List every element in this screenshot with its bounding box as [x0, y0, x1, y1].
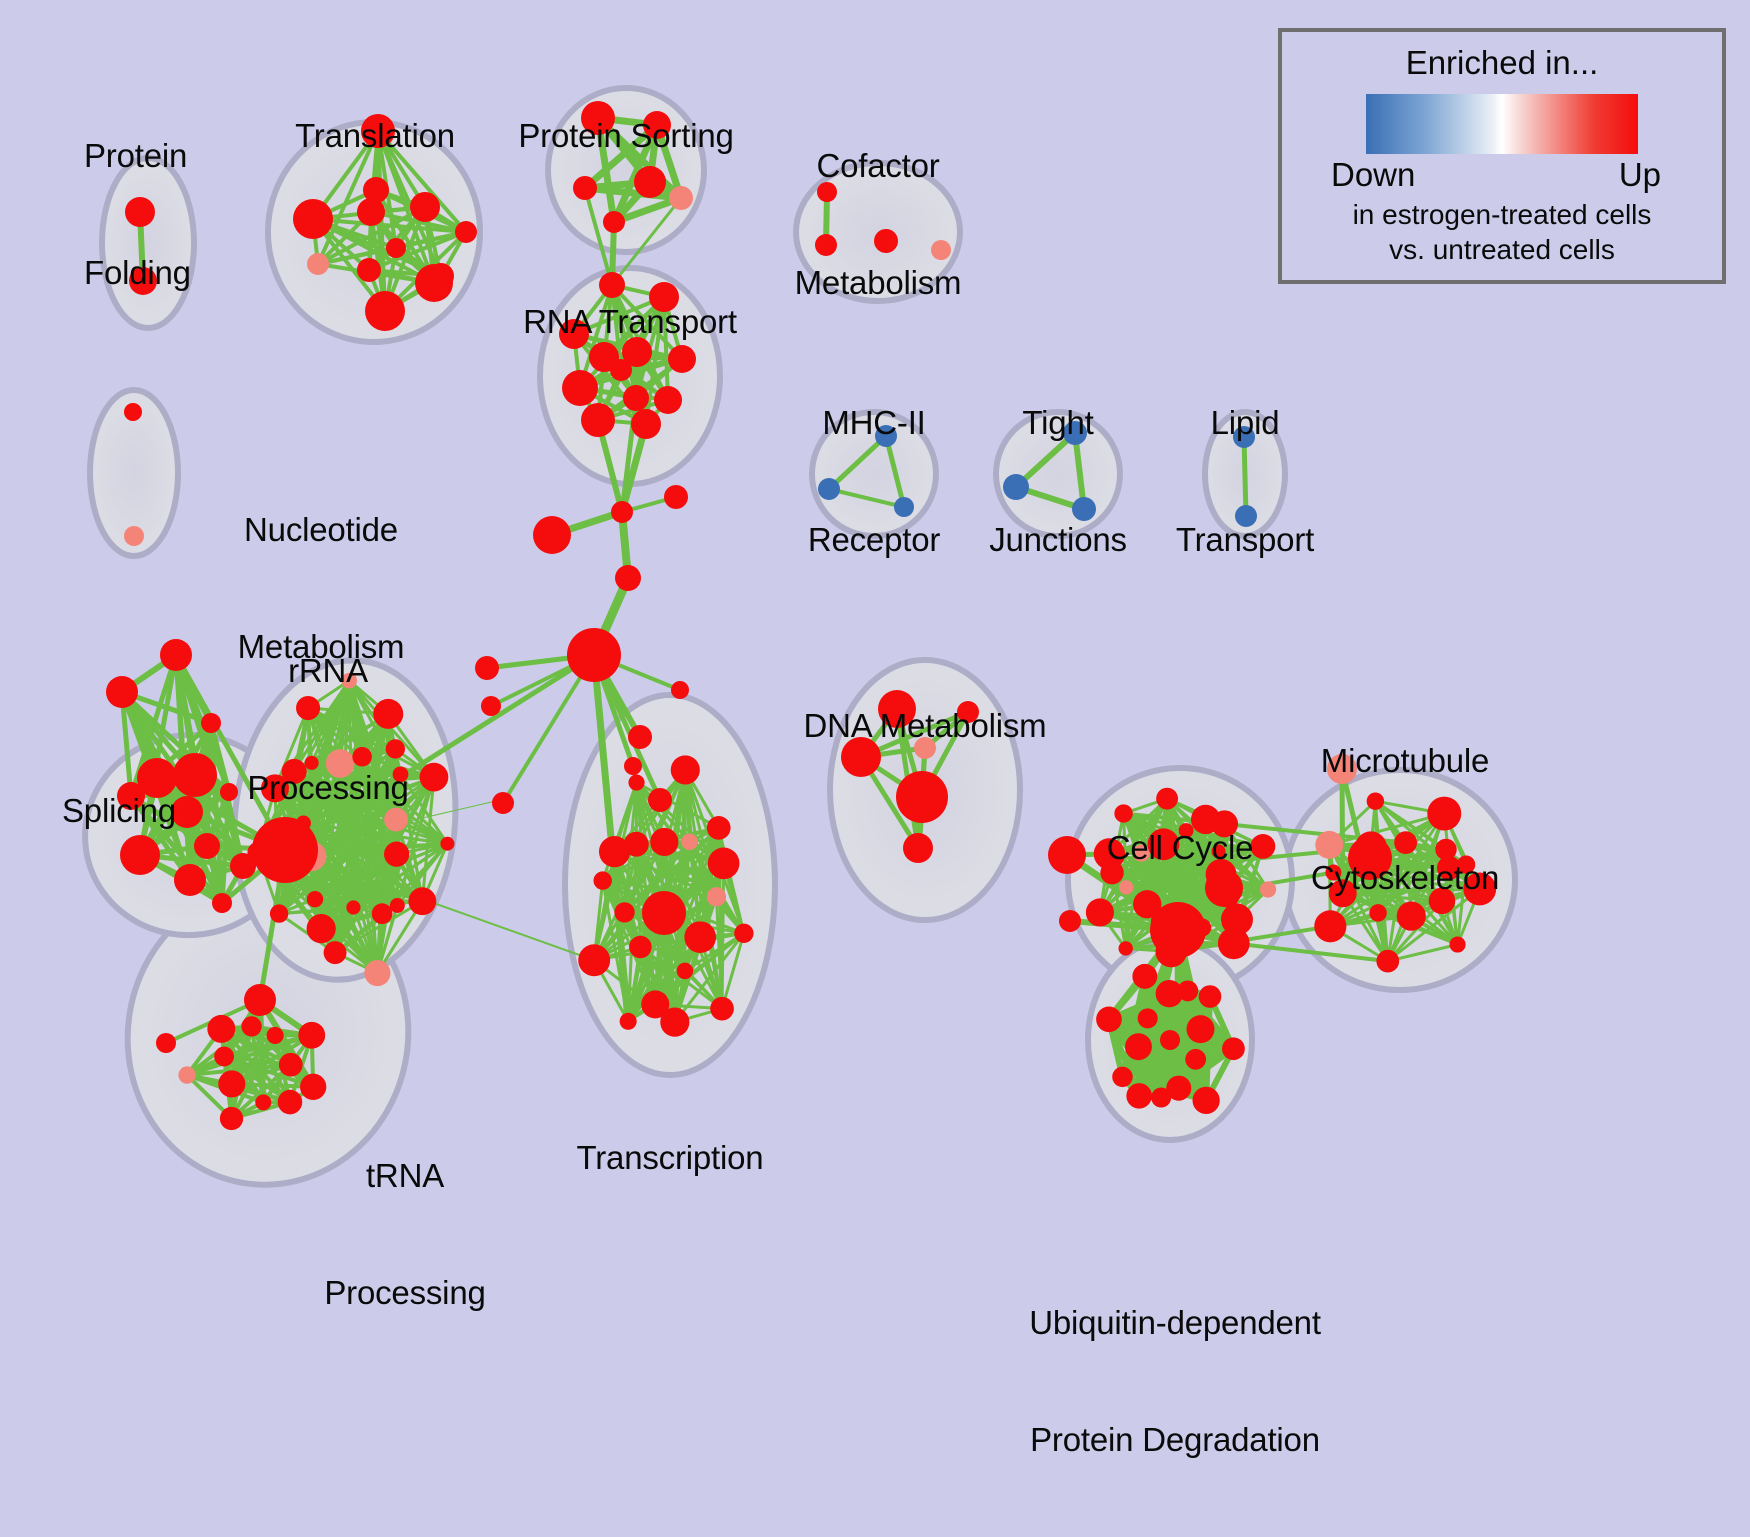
cluster-label-tight-junctions: Tight Junctions — [963, 325, 1153, 637]
network-node — [408, 887, 436, 915]
network-node — [578, 944, 610, 976]
network-node — [357, 258, 381, 282]
network-node — [267, 1027, 284, 1044]
network-node — [220, 1107, 243, 1130]
network-node — [1160, 1030, 1180, 1050]
cluster-label-lipid-transport: Lipid Transport — [1150, 325, 1340, 637]
legend-down-label: Down — [1331, 156, 1415, 194]
network-node — [734, 924, 753, 943]
network-node — [214, 1047, 234, 1067]
network-node — [611, 501, 633, 523]
network-node — [533, 516, 571, 554]
network-node — [386, 238, 406, 258]
network-node — [365, 291, 405, 331]
network-node — [475, 656, 499, 680]
network-node — [620, 1013, 637, 1030]
network-node — [244, 984, 276, 1016]
cluster-label-trna-processing: tRNA Processing — [290, 1078, 520, 1390]
network-figure: Protein Folding Translation Protein Sort… — [0, 0, 1750, 1360]
network-node — [307, 253, 329, 275]
legend-up-label: Up — [1619, 156, 1661, 194]
network-node — [1151, 1088, 1171, 1108]
network-node — [440, 837, 454, 851]
network-node — [160, 639, 192, 671]
network-node — [372, 903, 393, 924]
network-node — [124, 526, 144, 546]
network-node — [1096, 1006, 1122, 1032]
network-node — [1186, 1015, 1214, 1043]
network-node — [415, 264, 453, 302]
network-node — [624, 757, 642, 775]
network-node — [270, 904, 288, 922]
network-node — [1126, 1083, 1151, 1108]
network-node — [207, 1015, 235, 1043]
network-node — [492, 792, 514, 814]
network-node — [481, 696, 501, 716]
legend-subtitle-line2: vs. untreated cells — [1282, 233, 1722, 266]
legend-endpoints: Down Up — [1347, 156, 1657, 196]
network-node — [671, 755, 700, 784]
legend-colorbar — [1366, 94, 1638, 154]
network-node — [1112, 1067, 1132, 1087]
network-node — [1222, 1037, 1245, 1060]
network-node — [708, 848, 740, 880]
network-node — [593, 871, 611, 889]
network-node — [681, 834, 698, 851]
network-node — [218, 1070, 245, 1097]
cluster-label-dna-metabolism: DNA Metabolism — [775, 628, 1075, 823]
cluster-label-transcription: Transcription — [540, 1060, 800, 1255]
network-node — [1125, 1033, 1152, 1060]
network-node — [684, 921, 716, 953]
cluster-label-translation: Translation — [250, 38, 500, 233]
network-node — [346, 900, 360, 914]
cluster-label-ubiquitin-degradation: Ubiquitin-dependent Protein Degradation — [980, 1225, 1370, 1537]
network-node — [903, 833, 933, 863]
legend-subtitle-line1: in estrogen-treated cells — [1282, 198, 1722, 231]
network-node — [307, 914, 336, 943]
network-node — [1185, 1049, 1206, 1070]
cluster-label-mhc-ii-receptor: MHC-II Receptor — [779, 325, 969, 637]
network-node — [1177, 980, 1198, 1001]
legend-title: Enriched in... — [1282, 44, 1722, 82]
network-node — [124, 403, 142, 421]
cluster-label-protein-sorting: Protein Sorting — [466, 38, 786, 233]
network-node — [664, 485, 688, 509]
network-node — [648, 788, 672, 812]
cluster-label-microtubule-cytoskeleton: Microtubule Cytoskeleton — [1255, 663, 1555, 975]
cluster-label-splicing: Splicing — [62, 713, 262, 908]
network-node — [1132, 964, 1157, 989]
network-node — [364, 960, 390, 986]
network-node — [390, 898, 405, 913]
network-node — [178, 1066, 195, 1083]
network-node — [628, 725, 652, 749]
network-node — [106, 676, 138, 708]
network-node — [1199, 985, 1222, 1008]
network-node — [642, 891, 686, 935]
network-node — [255, 1094, 271, 1110]
network-node — [614, 902, 634, 922]
network-node — [628, 774, 644, 790]
network-node — [629, 936, 652, 959]
network-node — [156, 1033, 176, 1053]
network-node — [1192, 1087, 1219, 1114]
network-node — [298, 1022, 325, 1049]
network-node — [1138, 1008, 1158, 1028]
network-node — [710, 997, 734, 1021]
network-node — [567, 628, 621, 682]
network-node — [671, 681, 689, 699]
network-node — [624, 832, 649, 857]
network-node — [241, 1016, 261, 1036]
network-node — [650, 828, 678, 856]
network-node — [324, 941, 347, 964]
network-node — [677, 963, 694, 980]
network-node — [707, 887, 726, 906]
network-node — [615, 565, 641, 591]
network-node — [279, 1053, 303, 1077]
legend-panel: Enriched in... Down Up in estrogen-treat… — [1278, 28, 1726, 284]
network-node — [307, 891, 323, 907]
cluster-label-rna-transport: RNA Transport — [470, 224, 790, 419]
network-node — [707, 816, 731, 840]
network-node — [641, 990, 669, 1018]
